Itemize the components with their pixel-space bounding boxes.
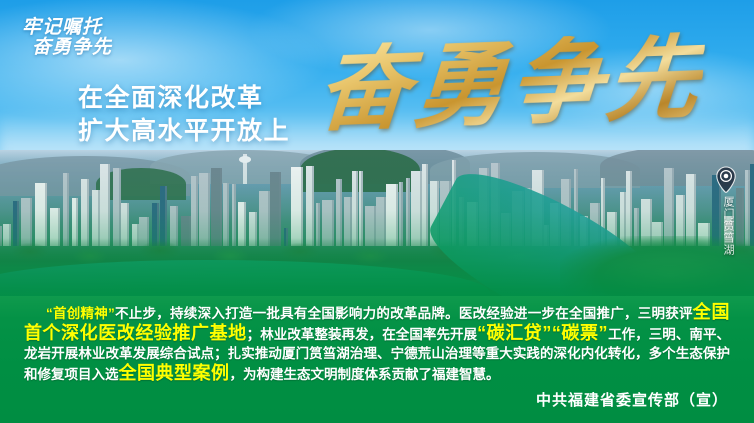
logo-line-2: 奋勇争先	[32, 38, 134, 58]
body-highlight: “	[46, 306, 53, 321]
subtitle-line-1: 在全面深化改革	[78, 82, 290, 115]
watermark-label: 厦门筼筜湖	[716, 196, 734, 256]
headline-calligraphy: 奋勇争先	[314, 31, 706, 136]
body-highlight-large: “碳票”	[552, 323, 608, 343]
body-text: ；林业改革整装再发，在全国率先开展	[247, 327, 477, 342]
green-gradient-overlay	[0, 150, 754, 310]
body-highlight: 首创精神	[53, 306, 108, 321]
logo-line-1: 牢记嘱托	[22, 18, 134, 38]
subtitle-line-2: 扩大高水平开放上	[78, 115, 290, 148]
body-highlight-large: “碳汇贷”	[477, 323, 552, 343]
body-text: ，为构建生态文明制度体系贡献了福建智慧。	[230, 367, 500, 382]
subtitle-block: 在全面深化改革 扩大高水平开放上	[78, 82, 290, 148]
publisher-signature: 中共福建省委宣传部（宣）	[536, 389, 728, 410]
body-highlight: ”	[108, 306, 115, 321]
body-highlight-large: 全国典型案例	[119, 363, 230, 383]
campaign-logo: 牢记嘱托 奋勇争先	[14, 18, 134, 64]
body-text: 不止步，持续深入打造一批具有全国影响力的改革品牌。医改经验进一步在全国推广，三明…	[115, 306, 693, 321]
body-copy: “首创精神”不止步，持续深入打造一批具有全国影响力的改革品牌。医改经验进一步在全…	[24, 303, 730, 384]
poster-canvas: 牢记嘱托 奋勇争先 在全面深化改革 扩大高水平开放上 奋勇争先 厦门筼筜湖 “首…	[0, 0, 754, 423]
location-pin-icon	[714, 166, 738, 194]
